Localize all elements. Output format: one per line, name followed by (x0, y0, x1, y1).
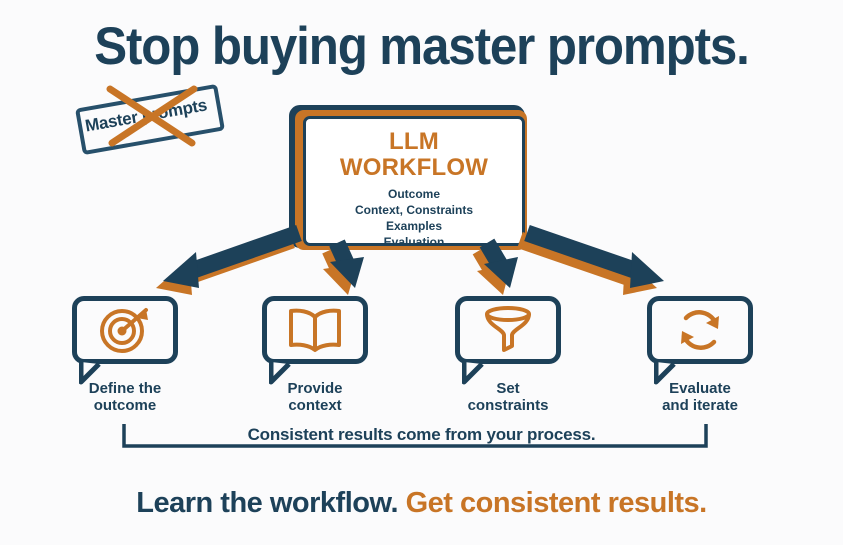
arrow-to-set-constraints (477, 243, 518, 295)
caption-line-1: Provide (235, 380, 395, 397)
caption-line-2: constraints (428, 397, 588, 414)
step-bubble-define-outcome[interactable] (72, 296, 178, 364)
tagline-primary: Learn the workflow. (136, 487, 398, 519)
workflow-title-line-1: LLM (340, 129, 488, 155)
caption-line-2: context (235, 397, 395, 414)
arrow-to-define-outcome (156, 233, 299, 295)
workflow-item: Outcome (355, 187, 473, 203)
workflow-item: Evaluation (355, 235, 473, 251)
tagline: Learn the workflow. Get consistent resul… (0, 487, 843, 520)
target-arrow-icon (96, 305, 154, 355)
workflow-card-title: LLM WORKFLOW (340, 129, 488, 180)
crossed-out-x-icon (72, 83, 224, 149)
refresh-cycle-icon (674, 305, 726, 355)
caption-line-1: Evaluate (620, 380, 780, 397)
step-caption-define-outcome: Define the outcome (45, 380, 205, 415)
step-bubble-set-constraints[interactable] (455, 296, 561, 364)
workflow-title-line-2: WORKFLOW (340, 155, 488, 181)
step-caption-evaluate-iterate: Evaluate and iterate (620, 380, 780, 415)
step-bubble-provide-context[interactable] (262, 296, 368, 364)
step-caption-set-constraints: Set constraints (428, 380, 588, 415)
page-title: Stop buying master prompts. (30, 16, 814, 77)
tagline-accent: Get consistent results. (406, 487, 707, 519)
bracket-caption-text: Consistent results come from your proces… (238, 425, 606, 444)
caption-line-1: Set (428, 380, 588, 397)
funnel-icon (481, 305, 535, 355)
master-prompts-stamp: Master prompts (72, 83, 224, 149)
caption-line-2: and iterate (620, 397, 780, 414)
caption-line-1: Define the (45, 380, 205, 397)
flow-arrows (0, 0, 843, 545)
caption-line-2: outcome (45, 397, 205, 414)
workflow-card-items: Outcome Context, Constraints Examples Ev… (355, 187, 473, 251)
bracket-caption: Consistent results come from your proces… (0, 425, 843, 445)
workflow-card: LLM WORKFLOW Outcome Context, Constraint… (303, 116, 525, 246)
step-bubble-evaluate-iterate[interactable] (647, 296, 753, 364)
open-book-icon (286, 307, 344, 353)
workflow-item: Context, Constraints (355, 203, 473, 219)
arrow-to-evaluate-iterate (520, 233, 664, 295)
workflow-item: Examples (355, 219, 473, 235)
infographic-poster: Stop buying master prompts. Master promp… (0, 0, 843, 545)
step-caption-provide-context: Provide context (235, 380, 395, 415)
